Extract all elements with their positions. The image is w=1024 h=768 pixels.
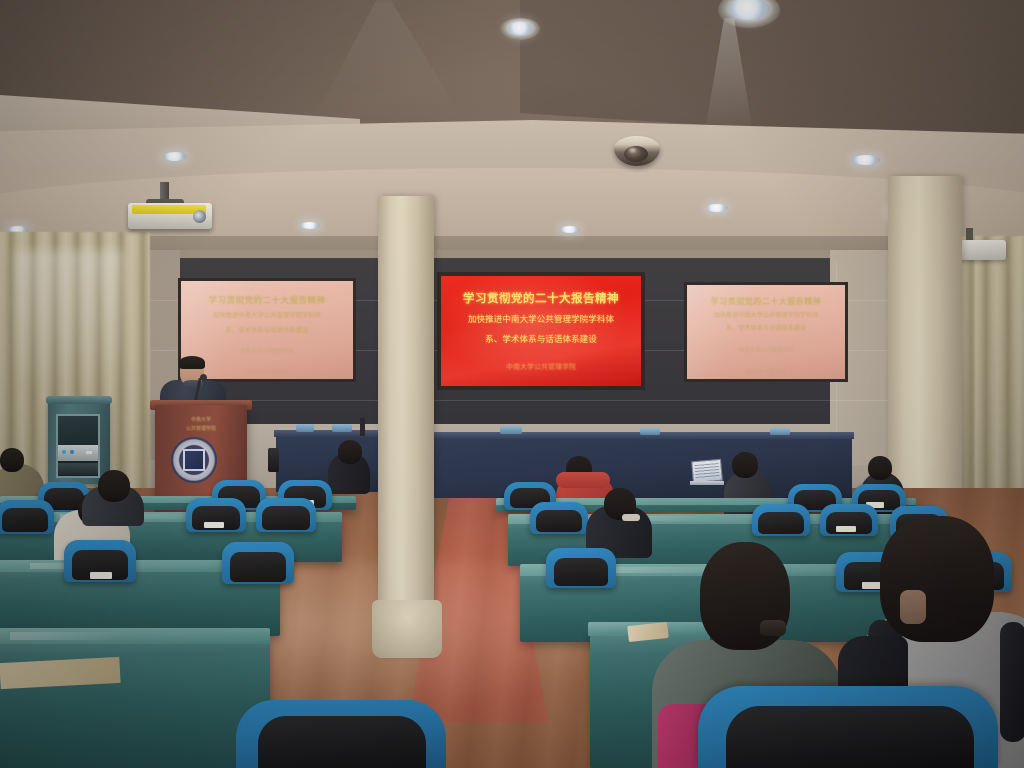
hair-clip-icon: [760, 620, 786, 636]
attendee-head: [0, 448, 24, 472]
chair-pad: [262, 506, 310, 530]
thermos-icon: [268, 448, 279, 472]
camera-glint: [629, 148, 636, 152]
desk-equipment: [500, 426, 522, 434]
podium-plaque-line-2: 公共管理学院: [163, 425, 239, 434]
university-seal-center: [183, 449, 205, 471]
av-rack-top: [46, 396, 112, 404]
main-screen-title: 学习贯彻党的二十大报告精神: [441, 290, 641, 306]
chair-pad: [554, 558, 608, 586]
desk-sheen: [10, 632, 200, 640]
attendee-head: [732, 452, 758, 478]
microphone-head-icon: [200, 374, 207, 381]
desk-equipment: [640, 428, 660, 435]
hood: [556, 472, 610, 488]
podium-plaque-line-1: 中南大学: [163, 416, 239, 425]
chair-pad: [230, 552, 286, 582]
laptop-base: [690, 481, 724, 485]
desk-equipment: [770, 428, 790, 435]
main-screen-subtitle-1: 加快推进中南大学公共管理学院学科体: [441, 314, 641, 326]
status-led-icon: [86, 451, 92, 454]
desk-foreground-left: [0, 636, 270, 768]
desk-equipment: [332, 424, 352, 432]
left-screen-footer-1: 中南大学公共管理学院: [181, 349, 353, 357]
lecture-hall-photo: 学习贯彻党的二十大报告精神 加快推进中南大学公共管理学院学科体 系、学术体系与话…: [0, 0, 1024, 768]
desk-cable: [360, 418, 365, 436]
main-screen-footer-1: 中南大学公共管理学院: [441, 363, 641, 373]
laptop-screen-content: [694, 463, 719, 479]
status-led-icon: [70, 450, 74, 454]
right-screen-title: 学习贯彻党的二十大报告精神: [687, 296, 845, 307]
attendee-collar: [622, 514, 640, 521]
podium-plaque: 中南大学 公共管理学院: [163, 416, 239, 436]
column-right: [888, 176, 962, 506]
projector-lens-icon: [193, 210, 206, 223]
right-screen-footer-1: 中南大学公共管理学院: [687, 348, 845, 356]
front-bench-desk-right: [432, 436, 852, 498]
left-screen-subtitle-1: 加快推进中南大学公共管理学院学科体: [181, 312, 353, 321]
column-base: [372, 600, 442, 658]
desk-equipment: [296, 424, 314, 432]
right-screen-subtitle-1: 加快推进中南大学公共管理学院学科体: [687, 312, 845, 320]
attendee-head: [98, 470, 130, 502]
backpack-strap: [1000, 622, 1024, 742]
chair-pad: [758, 512, 804, 534]
attendee-neck: [900, 590, 926, 624]
chair-foreground-pad: [258, 716, 426, 768]
ceiling-light-icon: [508, 22, 533, 35]
left-screen-subtitle-2: 系、学术体系与话语体系建设: [181, 327, 353, 336]
ceiling-light-icon: [163, 152, 187, 161]
center-led-screen: 学习贯彻党的二十大报告精神 加快推进中南大学公共管理学院学科体 系、学术体系与话…: [437, 272, 645, 390]
ceiling-light-icon: [300, 222, 320, 229]
ceiling-light-icon: [852, 155, 880, 165]
attendee-head: [868, 456, 892, 480]
chair-number-tag: [204, 522, 224, 528]
right-screen-subtitle-2: 系、学术体系与话语体系建设: [687, 325, 845, 333]
camera-lens-icon: [624, 146, 648, 162]
chair-number-tag: [90, 572, 112, 579]
ceiling-light-icon: [706, 204, 728, 212]
column-center: [378, 196, 434, 656]
right-projection-screen: 学习贯彻党的二十大报告精神 加快推进中南大学公共管理学院学科体 系、学术体系与话…: [684, 282, 848, 382]
status-led-icon: [62, 450, 66, 454]
attendee-head: [338, 440, 362, 464]
left-screen-title: 学习贯彻党的二十大报告精神: [181, 294, 353, 306]
chair-pad: [2, 508, 48, 532]
attendee-head-foreground-right: [880, 516, 994, 642]
speaker-hair: [179, 356, 205, 369]
chair-number-tag: [836, 526, 856, 532]
right-screen-footer-2: 2022年11月28日: [687, 369, 845, 377]
chair-pad: [536, 510, 582, 532]
chair-foreground-pad: [726, 706, 974, 768]
main-screen-subtitle-2: 系、学术体系与话语体系建设: [441, 334, 641, 346]
ceiling-light-icon: [560, 226, 580, 233]
front-bench-top: [274, 430, 384, 437]
av-rack-unit: [58, 463, 98, 475]
